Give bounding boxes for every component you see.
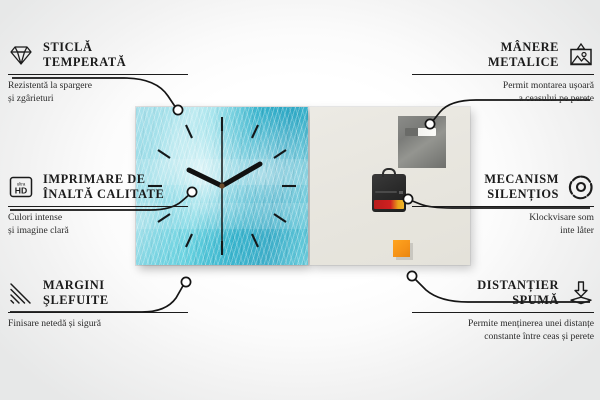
feature-title-row: STICLĂ TEMPERATĂ — [8, 40, 188, 70]
feature-title-row: MÂNERE METALICE — [412, 40, 594, 70]
feature-title: IMPRIMARE DE ÎNALTĂ CALITATE — [43, 172, 164, 202]
feature-description: Klockvisare som inte låter — [412, 212, 594, 237]
svg-text:HD: HD — [15, 186, 27, 196]
diamond-icon — [8, 42, 34, 68]
feature-divider — [8, 312, 188, 313]
feature-divider — [8, 206, 188, 207]
connector-dot-print — [187, 187, 196, 196]
feature-title: MARGINI ŞLEFUITE — [43, 278, 109, 308]
feature-description: Permite menținerea unei distanțe constan… — [412, 318, 594, 343]
hanging-frame-icon — [568, 42, 594, 68]
feature-divider — [412, 74, 594, 75]
beveled-edge-icon — [8, 280, 34, 306]
ultra-hd-icon: ultra HD — [8, 174, 34, 200]
feature-divider — [8, 74, 188, 75]
arrow-down-stack-icon — [568, 280, 594, 306]
feature-divider — [412, 312, 594, 313]
feature-tempered-glass[interactable]: STICLĂ TEMPERATĂ Rezistentă la spargere … — [8, 40, 188, 105]
connector-dot-tempered-glass — [173, 105, 182, 114]
feature-title-row: MECANISM SILENȚIOS — [412, 172, 594, 202]
feature-polished-edges[interactable]: MARGINI ŞLEFUITE Finisare netedă și sigu… — [8, 278, 188, 331]
feature-high-quality-print[interactable]: ultra HD IMPRIMARE DE ÎNALTĂ CALITATE Cu… — [8, 172, 188, 237]
feature-title-row: ultra HD IMPRIMARE DE ÎNALTĂ CALITATE — [8, 172, 188, 202]
feature-divider — [412, 206, 594, 207]
feature-description: Permit montarea ușoară a ceasului pe per… — [412, 80, 594, 105]
feature-title: MÂNERE METALICE — [488, 40, 559, 70]
feature-title-row: MARGINI ŞLEFUITE — [8, 278, 188, 308]
feature-description: Finisare netedă și sigură — [8, 318, 188, 330]
gear-icon — [568, 174, 594, 200]
feature-title-row: DISTANȚIER SPUMĂ — [412, 278, 594, 308]
infographic-canvas: STICLĂ TEMPERATĂ Rezistentă la spargere … — [0, 0, 600, 400]
feature-foam-spacer[interactable]: DISTANȚIER SPUMĂ Permite menținerea unei… — [412, 278, 594, 343]
feature-title: STICLĂ TEMPERATĂ — [43, 40, 126, 70]
feature-silent-mechanism[interactable]: MECANISM SILENȚIOS Klockvisare som inte … — [412, 172, 594, 237]
feature-description: Rezistentă la spargere și zgârieturi — [8, 80, 188, 105]
feature-title: MECANISM SILENȚIOS — [484, 172, 559, 202]
connector-dot-handles — [425, 119, 434, 128]
feature-description: Culori intense și imagine clară — [8, 212, 188, 237]
feature-title: DISTANȚIER SPUMĂ — [477, 278, 559, 308]
feature-metal-handles[interactable]: MÂNERE METALICE Permit montarea ușoară a… — [412, 40, 594, 105]
